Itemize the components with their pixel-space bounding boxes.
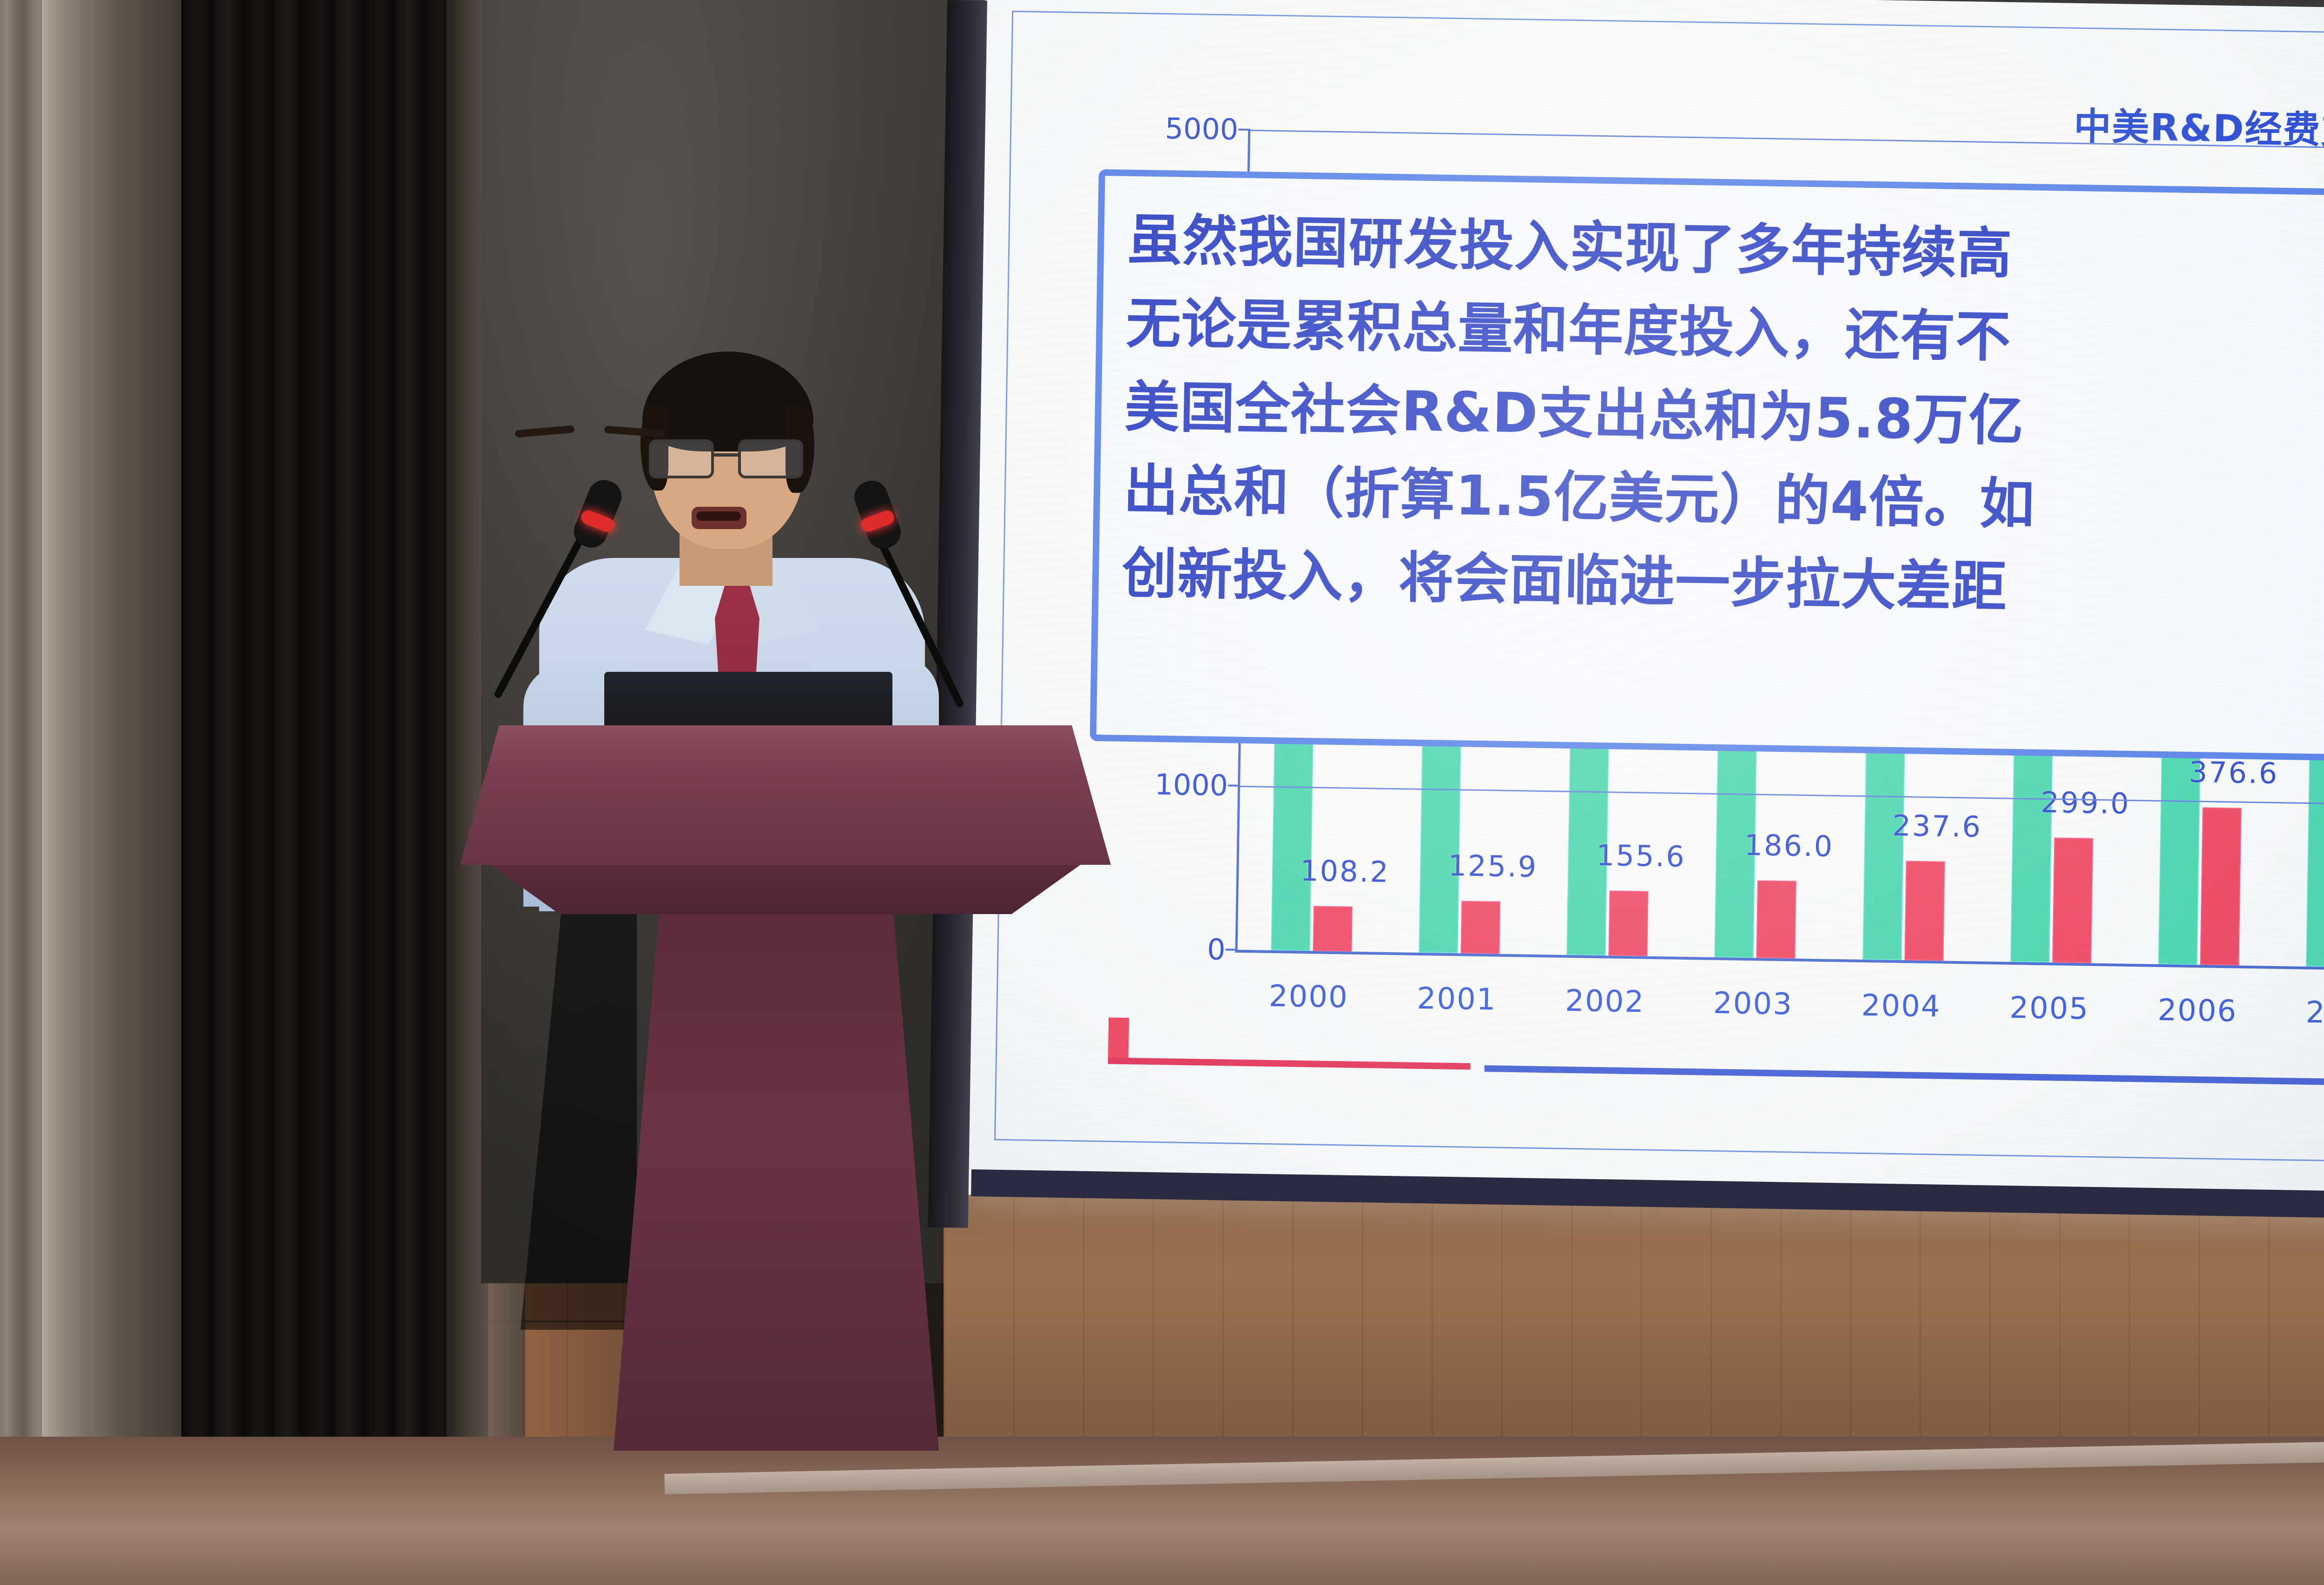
projection-screen: 中美R&D经费支 108.2125.9155.6186.0237.6299.03… — [966, 0, 2324, 1217]
bar-china — [1609, 890, 1649, 956]
podium-lip — [488, 863, 1083, 914]
presentation-photo: 中美R&D经费支 108.2125.9155.6186.0237.6299.03… — [0, 0, 2324, 1585]
chart-y-tick-label: 5000 — [1165, 112, 1239, 146]
wood-wall-right — [944, 1181, 2324, 1441]
bar-data-label: 237.6 — [1892, 809, 1982, 844]
bar-data-label: 155.6 — [1596, 838, 1686, 874]
chart-x-label: 2000 — [1234, 979, 1383, 1015]
legend-rule-blue — [1484, 1065, 2324, 1087]
bar-china — [2200, 808, 2241, 966]
chart-x-label: 2003 — [1679, 986, 1828, 1022]
chart-y-tick-mark — [1225, 948, 1237, 950]
eyebrow-left — [515, 425, 575, 438]
bar-china — [1461, 901, 1501, 954]
bar-data-label: 108.2 — [1300, 854, 1390, 889]
curtain-fold — [42, 0, 181, 1502]
bar-china — [1313, 906, 1353, 952]
podium — [460, 725, 1111, 1451]
podium-shadow — [521, 911, 637, 1330]
chart-y-tick-mark — [1238, 129, 1250, 131]
legend-swatch-china — [1108, 1017, 1129, 1062]
bar-data-label: 376.6 — [2189, 755, 2279, 790]
chart-y-tick-label: 0 — [1207, 932, 1226, 967]
bar-china — [1904, 861, 1945, 961]
chart-x-label: 2004 — [1827, 988, 1975, 1025]
podium-desktop — [460, 725, 1111, 865]
lens-right — [738, 439, 803, 478]
glasses-bridge — [714, 453, 740, 457]
eyeglasses-icon — [646, 439, 810, 479]
speaker-mouth-inner — [696, 511, 741, 521]
bar-china — [1756, 880, 1797, 959]
bar-data-label: 186.0 — [1744, 828, 1834, 863]
legend-rule-red — [1108, 1057, 1471, 1069]
slide-callout-textbox: 虽然我国研发投入实现了多年持续高无论是累积总量和年度投入，还有不美国全社会R&D… — [1090, 169, 2324, 762]
chart-x-label: 2005 — [1975, 990, 2124, 1027]
chart-x-label: 2007 — [2271, 995, 2324, 1032]
bar-data-label: 125.9 — [1448, 849, 1538, 884]
lens-left — [649, 439, 714, 478]
bar-china — [2052, 837, 2093, 963]
stage-drape-dark — [153, 0, 488, 1520]
podium-column — [614, 911, 939, 1451]
chart-x-label: 2006 — [2123, 993, 2272, 1029]
bar-data-label: 299.0 — [2040, 785, 2131, 821]
chart-x-label: 2001 — [1382, 981, 1531, 1018]
chart-x-axis-labels: 20002001200220032004200520062007 — [1234, 979, 2324, 1032]
chart-y-tick-mark — [1228, 785, 1240, 787]
chart-y-tick-label: 1000 — [1155, 768, 1228, 802]
chart-x-label: 2002 — [1531, 983, 1679, 1020]
